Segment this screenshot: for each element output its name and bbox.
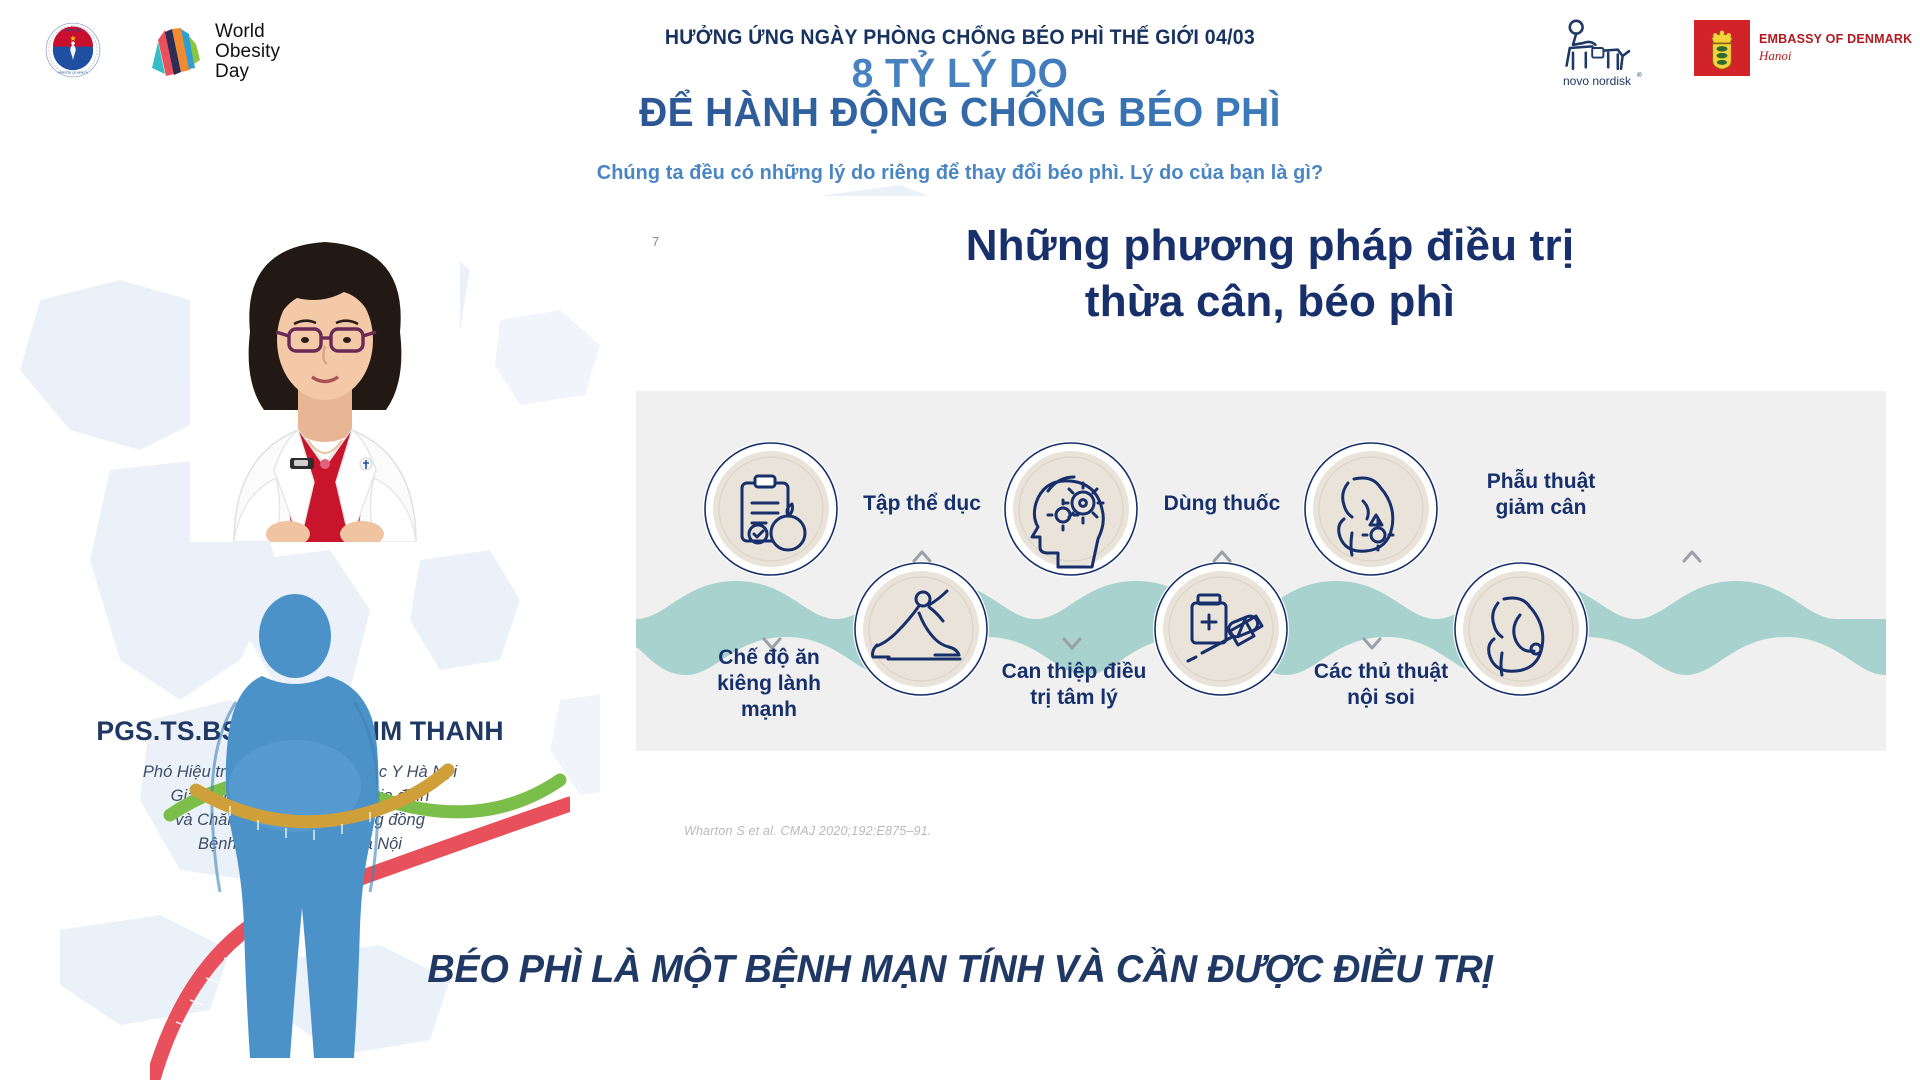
chevron-up-icon-1 xyxy=(914,552,930,561)
svg-text:novo nordisk: novo nordisk xyxy=(1563,74,1632,88)
label-healthy-diet: Chế độ ăn kiêng lành mạnh xyxy=(654,645,884,723)
svg-text:®: ® xyxy=(1637,71,1642,79)
denmark-coat-of-arms xyxy=(1694,20,1750,76)
slide-title: Những phương pháp điều trị thừa cân, béo… xyxy=(720,218,1820,330)
slide-number: 7 xyxy=(652,234,659,249)
campaign-tagline: Chúng ta đều có những lý do riêng để tha… xyxy=(29,161,1891,185)
embassy-title: EMBASSY OF DENMARK xyxy=(1759,32,1912,48)
campaign-title-line2: ĐỂ HÀNH ĐỘNG CHỐNG BÉO PHÌ xyxy=(48,89,1872,136)
novo-nordisk-logo: novo nordisk ® xyxy=(1549,16,1645,88)
slide-title-line2: thừa cân, béo phì xyxy=(720,274,1820,330)
body-silhouette-graphic xyxy=(150,590,570,1080)
source-citation: Wharton S et al. CMAJ 2020;192:E875–91. xyxy=(684,824,932,838)
page-header: BỘ Y TẾ MINISTRY OF HEALTH World Obesity… xyxy=(0,0,1920,196)
embassy-wordmark: EMBASSY OF DENMARK Hanoi xyxy=(1759,32,1912,64)
speaker-portrait xyxy=(190,212,460,542)
presentation-slide: BỘ Y TẾ MINISTRY OF HEALTH World Obesity… xyxy=(0,0,1920,1080)
bottom-banner: BÉO PHÌ LÀ MỘT BỆNH MẠN TÍNH VÀ CẦN ĐƯỢC… xyxy=(29,948,1891,992)
label-bariatric: Phẫu thuật giảm cân xyxy=(1416,469,1666,521)
slide-title-line1: Những phương pháp điều trị xyxy=(720,218,1820,274)
label-endoscopy: Các thủ thuật nội soi xyxy=(1256,659,1506,711)
label-psychological: Can thiệp điều trị tâm lý xyxy=(946,659,1202,711)
chevron-down-icon-3 xyxy=(1364,639,1380,648)
chevron-up-icon-2 xyxy=(1214,552,1230,561)
embassy-of-denmark-logo: EMBASSY OF DENMARK Hanoi xyxy=(1694,20,1912,76)
embassy-city: Hanoi xyxy=(1759,48,1912,64)
label-medication: Dùng thuốc xyxy=(1102,491,1342,517)
chevron-up-icon-3 xyxy=(1684,552,1700,561)
label-exercise: Tập thể dục xyxy=(802,491,1042,517)
treatment-diagram-panel: Chế độ ăn kiêng lành mạnh Tập thể dục Ca… xyxy=(636,391,1886,751)
